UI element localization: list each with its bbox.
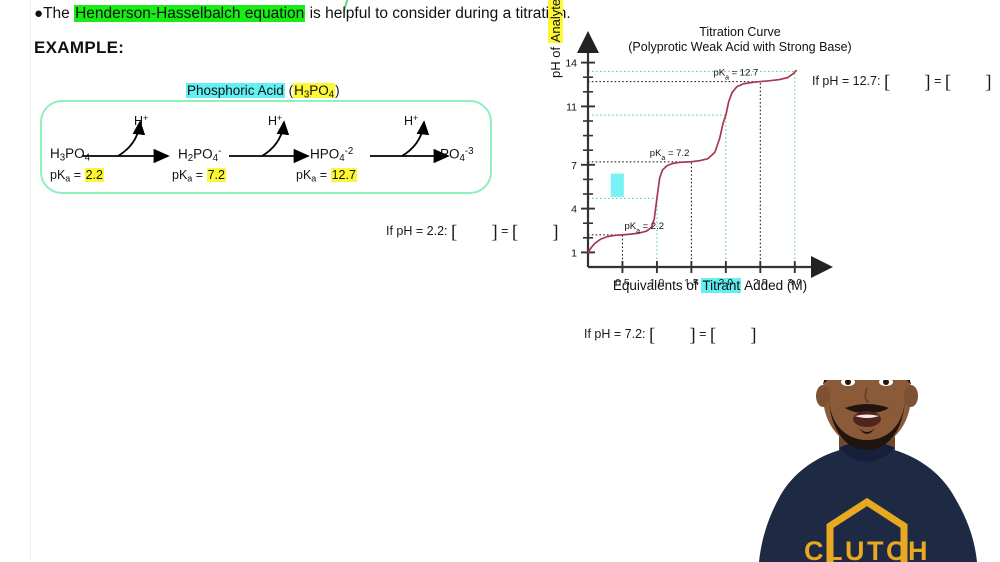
bracket-close-2a: ]	[689, 325, 695, 346]
proton-label-2: H+	[268, 113, 282, 128]
bracket-close-3a: ]	[924, 72, 930, 93]
bullet-line: ●The Henderson-Hasselbalch equation is h…	[34, 5, 571, 23]
bracket-close-3b: ]	[985, 72, 991, 93]
x-tick-label-3.0: 3.0	[787, 277, 802, 285]
x-tick-label-0.5: 0.5	[615, 277, 630, 285]
bracket-close-1a: ]	[491, 222, 497, 243]
lecture-slide: ●The Henderson-Hasselbalch equation is h…	[0, 0, 1000, 562]
species-hpo4: HPO4-2	[310, 146, 353, 164]
margin-rule	[30, 0, 31, 562]
y-tick-label-1: 1	[571, 247, 577, 259]
bracket-open-3b: [	[945, 72, 951, 93]
bracket-open-2b: [	[710, 325, 716, 346]
bracket-open-1a: [	[451, 222, 457, 243]
henderson-hasselbalch-highlight: Henderson-Hasselbalch equation	[74, 5, 305, 22]
acid-formula: (H3PO4)	[289, 83, 340, 98]
pka-value-2: 7.2	[207, 168, 226, 182]
example-heading: EXAMPLE:	[34, 38, 124, 58]
y-tick-label-7: 7	[571, 160, 577, 172]
bracket-close-2b: ]	[750, 325, 756, 346]
x-tick-label-2.0: 2.0	[719, 277, 734, 285]
y-tick-label-11: 11	[566, 101, 577, 113]
equation-ph-7-2: If pH = 7.2: [] = []	[584, 325, 757, 347]
pka-label-2: pKa = 7.2	[172, 168, 226, 183]
equals-sign-2: =	[699, 327, 706, 341]
acid-diagram-title: Phosphoric Acid (H3PO4)	[186, 83, 340, 100]
x-tick-label-1.0: 1.0	[650, 277, 665, 285]
bracket-open-2a: [	[649, 325, 655, 346]
pka-value-3: 12.7	[331, 168, 357, 182]
pka-annotation-2: pKa = 7.2	[650, 148, 690, 162]
species-h3po4: H3PO4	[50, 146, 90, 163]
presenter-video-overlay: CLUTCH	[735, 380, 1000, 562]
shirt-wordmark: CLUTCH	[804, 536, 930, 562]
presenter-figure: CLUTCH	[735, 380, 1000, 562]
pka-value-1: 2.2	[85, 168, 104, 182]
pka-label-3: pKa = 12.7	[296, 168, 357, 183]
y-tick-label-4: 4	[571, 204, 577, 216]
acid-name-highlight: Phosphoric Acid	[186, 83, 285, 98]
bracket-open-3a: [	[884, 72, 890, 93]
pka-label-1: pKa = 2.2	[50, 168, 104, 183]
y-tick-label-14: 14	[565, 58, 577, 70]
pka-annotation-3: pKa = 12.7	[713, 68, 758, 82]
acid-arrows-svg	[40, 100, 492, 194]
x-tick-label-1.5: 1.5	[684, 277, 699, 285]
bracket-open-1b: [	[512, 222, 518, 243]
bullet-suffix: is helpful to consider during a titratio…	[305, 5, 570, 22]
titration-curve-plot: 14711140.51.01.52.02.53.0pKa = 2.2pKa = …	[540, 20, 840, 285]
species-h2po4: H2PO4-	[178, 146, 221, 164]
x-tick-label-2.5: 2.5	[753, 277, 768, 285]
equation-lead-1: If pH = 2.2:	[386, 224, 448, 238]
equals-sign-3: =	[934, 74, 941, 88]
species-po4: PO4-3	[440, 146, 474, 164]
equation-lead-2: If pH = 7.2:	[584, 327, 646, 341]
bullet-prefix: The	[43, 5, 74, 22]
chart-cyan-highlight	[611, 174, 624, 197]
bullet-dot: ●	[34, 5, 43, 22]
equals-sign-1: =	[501, 224, 508, 238]
proton-label-1: H+	[134, 113, 148, 128]
equation-ph-2-2: If pH = 2.2: [] = []	[386, 222, 559, 244]
proton-label-3: H+	[404, 113, 418, 128]
